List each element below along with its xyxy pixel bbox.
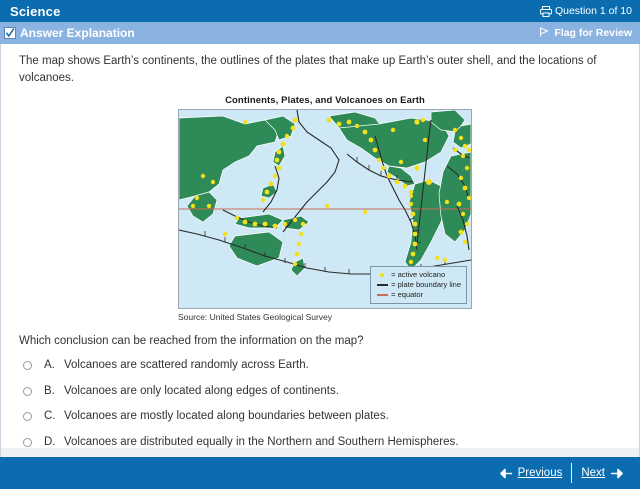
- option-text-b: Volcanoes are only located along edges o…: [64, 385, 639, 397]
- previous-button[interactable]: Previous: [491, 467, 572, 479]
- radio-button-c[interactable]: [23, 412, 32, 421]
- option-letter-d: D.: [44, 436, 64, 448]
- option-a[interactable]: A. Volcanoes are scattered randomly acro…: [23, 359, 639, 371]
- legend-label-equator: = equator: [391, 290, 423, 300]
- option-letter-a: A.: [44, 359, 64, 371]
- figure-title: Continents, Plates, and Volcanoes on Ear…: [178, 95, 472, 106]
- option-letter-c: C.: [44, 410, 64, 422]
- next-button[interactable]: Next: [572, 467, 632, 479]
- radio-button-d[interactable]: [23, 438, 32, 447]
- figure-source: Source: United States Geological Survey: [178, 312, 472, 322]
- option-b[interactable]: B. Volcanoes are only located along edge…: [23, 385, 639, 397]
- answer-explanation-toggle[interactable]: Answer Explanation: [4, 26, 135, 40]
- legend-item-volcano: = active volcano: [375, 270, 461, 280]
- volcano-dot-icon: [375, 273, 389, 277]
- radio-button-a[interactable]: [23, 361, 32, 370]
- option-text-d: Volcanoes are distributed equally in the…: [64, 436, 639, 448]
- flag-icon: [538, 26, 550, 41]
- question-text: Which conclusion can be reached from the…: [19, 335, 625, 347]
- header-right-group: Question 1 of 10: [540, 5, 632, 17]
- figure-block: Continents, Plates, and Volcanoes on Ear…: [1, 95, 639, 322]
- option-letter-b: B.: [44, 385, 64, 397]
- answer-explanation-label: Answer Explanation: [20, 26, 135, 40]
- option-d[interactable]: D. Volcanoes are distributed equally in …: [23, 436, 639, 448]
- option-text-c: Volcanoes are mostly located along bound…: [64, 410, 639, 422]
- legend-item-plate-boundary: = plate boundary line: [375, 280, 461, 290]
- question-content: The map shows Earth’s continents, the ou…: [0, 44, 640, 457]
- radio-button-b[interactable]: [23, 387, 32, 396]
- assessment-window: Science Question 1 of 10 Answer Explanat…: [0, 0, 640, 489]
- legend-label-volcano: = active volcano: [391, 270, 445, 280]
- plate-boundary-line-icon: [375, 284, 389, 286]
- flag-for-review-button[interactable]: Flag for Review: [538, 26, 632, 41]
- footer-spacer: [0, 448, 640, 457]
- next-label: Next: [581, 467, 605, 479]
- equator-line-icon: [375, 294, 389, 296]
- option-c[interactable]: C. Volcanoes are mostly located along bo…: [23, 410, 639, 422]
- flag-for-review-label: Flag for Review: [554, 27, 632, 39]
- navigation-footer: Previous Next: [0, 457, 640, 489]
- arrow-left-icon: [500, 468, 513, 479]
- option-text-a: Volcanoes are scattered randomly across …: [64, 359, 639, 371]
- arrow-right-icon: [610, 468, 623, 479]
- question-counter: Question 1 of 10: [555, 5, 632, 17]
- world-map: = active volcano = plate boundary line =…: [178, 109, 472, 309]
- previous-label: Previous: [518, 467, 563, 479]
- app-header: Science Question 1 of 10: [0, 0, 640, 22]
- sub-header: Answer Explanation Flag for Review: [0, 22, 640, 44]
- map-legend: = active volcano = plate boundary line =…: [370, 266, 467, 304]
- checkmark-icon[interactable]: [4, 27, 16, 39]
- legend-label-plate-boundary: = plate boundary line: [391, 280, 461, 290]
- stem-text: The map shows Earth’s continents, the ou…: [19, 53, 625, 86]
- page-title: Science: [10, 4, 61, 19]
- answer-options: A. Volcanoes are scattered randomly acro…: [23, 359, 639, 448]
- print-icon[interactable]: [540, 6, 552, 17]
- legend-item-equator: = equator: [375, 290, 461, 300]
